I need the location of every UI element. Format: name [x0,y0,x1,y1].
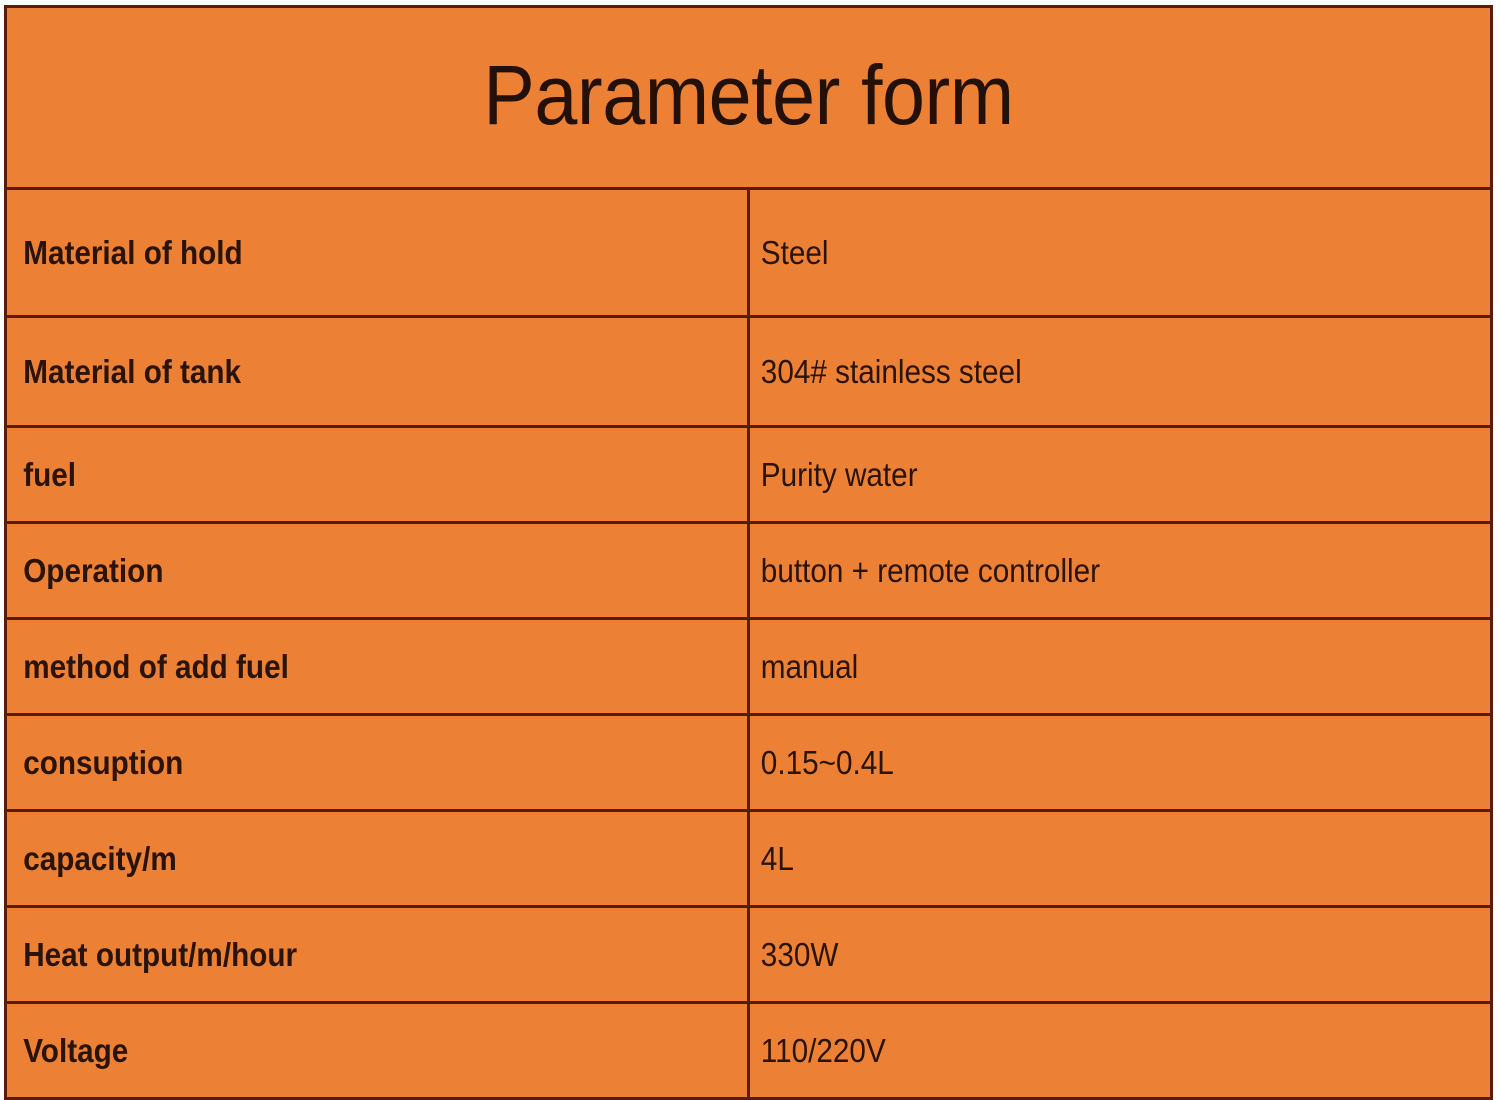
row-label: Material of tank [7,353,673,391]
table-row: Operation button + remote controller [6,523,1492,619]
row-label: Material of hold [7,234,673,272]
row-value-cell: 4L [749,811,1492,907]
row-label: method of add fuel [7,648,673,686]
table-title-row: Parameter form [6,7,1492,189]
row-value-cell: 110/220V [749,1003,1492,1099]
row-label: Heat output/m/hour [7,936,673,974]
row-label-cell: Heat output/m/hour [6,907,749,1003]
row-value: 110/220V [750,1032,1416,1070]
table-row: fuel Purity water [6,427,1492,523]
row-value-cell: Steel [749,189,1492,317]
row-value: button + remote controller [750,552,1416,590]
row-value: 330W [750,936,1416,974]
parameter-form-table: Parameter form Material of hold Steel Ma… [4,5,1493,1100]
row-value: Purity water [750,456,1416,494]
table-row: consuption 0.15~0.4L [6,715,1492,811]
table-title-cell: Parameter form [6,7,1492,189]
row-value: 304# stainless steel [750,353,1416,391]
row-label: fuel [7,456,673,494]
row-value-cell: 330W [749,907,1492,1003]
row-label-cell: method of add fuel [6,619,749,715]
table-row: Material of tank 304# stainless steel [6,317,1492,427]
table-row: capacity/m 4L [6,811,1492,907]
row-value: 4L [750,840,1416,878]
row-label-cell: Material of tank [6,317,749,427]
row-label-cell: Material of hold [6,189,749,317]
row-label-cell: Voltage [6,1003,749,1099]
row-label-cell: consuption [6,715,749,811]
row-value-cell: 0.15~0.4L [749,715,1492,811]
table-row: Voltage 110/220V [6,1003,1492,1099]
row-value-cell: Purity water [749,427,1492,523]
row-value: 0.15~0.4L [750,744,1416,782]
row-value-cell: 304# stainless steel [749,317,1492,427]
row-value: manual [750,648,1416,686]
row-label-cell: fuel [6,427,749,523]
row-label: Voltage [7,1032,673,1070]
row-label: capacity/m [7,840,673,878]
row-label-cell: Operation [6,523,749,619]
row-label-cell: capacity/m [6,811,749,907]
row-value-cell: button + remote controller [749,523,1492,619]
parameter-form-body: Parameter form Material of hold Steel Ma… [6,7,1492,1099]
table-row: method of add fuel manual [6,619,1492,715]
table-row: Heat output/m/hour 330W [6,907,1492,1003]
table-row: Material of hold Steel [6,189,1492,317]
row-label: Operation [7,552,673,590]
row-value-cell: manual [749,619,1492,715]
page-canvas: Parameter form Material of hold Steel Ma… [0,0,1500,1079]
row-value: Steel [750,234,1416,272]
page-title: Parameter form [66,53,1430,143]
row-label: consuption [7,744,673,782]
